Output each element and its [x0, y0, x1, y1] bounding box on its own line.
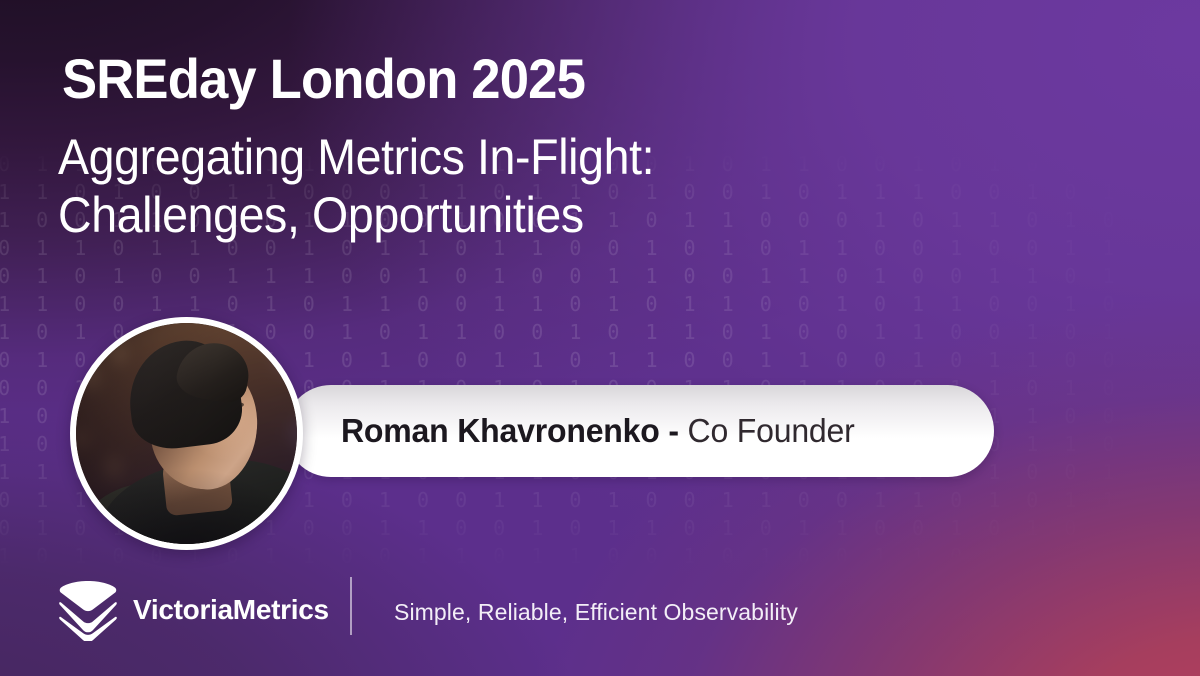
brand-lockup: VictoriaMetrics	[58, 579, 329, 641]
brand-name: VictoriaMetrics	[133, 594, 329, 626]
card-footer: VictoriaMetrics Simple, Reliable, Effici…	[0, 556, 1200, 676]
speaker-announcement-card: 1 0 1 1 0 0 1 0 1 1 0 1 0 0 1 1 0 0 0 1 …	[0, 0, 1200, 676]
brand-tagline: Simple, Reliable, Efficient Observabilit…	[394, 599, 798, 626]
speaker-separator: -	[668, 412, 678, 449]
talk-title-line-1: Aggregating Metrics In-Flight:	[58, 128, 914, 186]
talk-title-line-2: Challenges, Opportunities	[58, 186, 914, 244]
speaker-role: Co Founder	[688, 412, 855, 449]
speaker-name: Roman Khavronenko	[341, 412, 660, 449]
speaker-text: Roman Khavronenko - Co Founder	[341, 412, 855, 450]
footer-divider	[350, 577, 352, 635]
talk-title: Aggregating Metrics In-Flight: Challenge…	[58, 128, 914, 244]
victoriametrics-chevron-logo-icon	[58, 579, 118, 641]
speaker-photo	[76, 323, 297, 544]
card-content: SREday London 2025 Aggregating Metrics I…	[0, 0, 1200, 676]
event-title: SREday London 2025	[62, 50, 585, 109]
photo-shadow-overlay	[76, 323, 297, 544]
speaker-name-pill: Roman Khavronenko - Co Founder	[285, 385, 994, 477]
speaker-avatar	[70, 317, 303, 550]
